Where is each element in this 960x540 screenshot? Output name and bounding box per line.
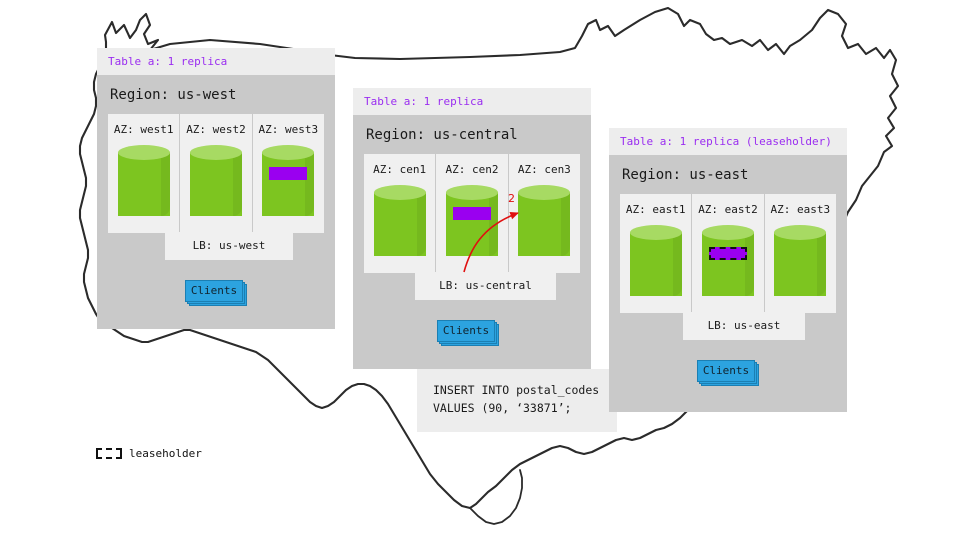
db-node-west1[interactable] <box>118 145 170 223</box>
region-title-us-central: Region: us-central <box>353 115 591 154</box>
load-balancer-us-central[interactable]: LB: us-central <box>415 272 556 300</box>
az-label-east2: AZ: east2 <box>692 203 763 216</box>
legend: leaseholder <box>96 447 202 460</box>
region-header-us-west: Table a: 1 replica <box>97 48 335 75</box>
cylinder-shade <box>489 192 498 256</box>
az-row-us-west: AZ: west1 AZ: west2 AZ: west3 <box>108 114 324 233</box>
region-title-us-west: Region: us-west <box>97 75 335 114</box>
sql-statement-box: INSERT INTO postal_codes VALUES (90, ‘33… <box>417 369 617 432</box>
db-node-west3[interactable] <box>262 145 314 223</box>
legend-label: leaseholder <box>129 447 202 460</box>
az-cell-cen3[interactable]: AZ: cen3 <box>509 154 580 273</box>
cylinder-top <box>190 145 242 160</box>
replica-marker-leaseholder-east2 <box>709 247 747 260</box>
region-panel-us-central: Table a: 1 replica Region: us-central AZ… <box>353 88 591 369</box>
clients-stack-us-west[interactable]: Clients <box>185 280 247 304</box>
diagram-canvas: Table a: 1 replica Region: us-west AZ: w… <box>0 0 960 540</box>
cylinder-top <box>630 225 682 240</box>
db-node-cen3[interactable] <box>518 185 570 263</box>
cylinder-shade <box>817 232 826 296</box>
az-label-west2: AZ: west2 <box>180 123 251 136</box>
db-node-cen1[interactable] <box>374 185 426 263</box>
clients-label-us-east: Clients <box>697 360 755 382</box>
region-panel-us-west: Table a: 1 replica Region: us-west AZ: w… <box>97 48 335 329</box>
cylinder-top <box>774 225 826 240</box>
cylinder-top <box>262 145 314 160</box>
cylinder-top <box>518 185 570 200</box>
db-node-cen2[interactable] <box>446 185 498 263</box>
cylinder-shade <box>745 232 754 296</box>
db-node-east1[interactable] <box>630 225 682 303</box>
clients-stack-us-central[interactable]: Clients <box>437 320 499 344</box>
load-balancer-us-west[interactable]: LB: us-west <box>165 232 293 260</box>
region-title-us-east: Region: us-east <box>609 155 847 194</box>
dashed-rect-icon <box>96 448 122 459</box>
clients-label-us-central: Clients <box>437 320 495 342</box>
replica-marker-cen2 <box>453 207 491 220</box>
load-balancer-us-east[interactable]: LB: us-east <box>683 312 805 340</box>
cylinder-top <box>118 145 170 160</box>
clients-stack-us-east[interactable]: Clients <box>697 360 759 384</box>
arrow-step-number-2: 2 <box>508 192 515 205</box>
clients-label-us-west: Clients <box>185 280 243 302</box>
cylinder-shade <box>305 152 314 216</box>
az-label-cen2: AZ: cen2 <box>436 163 507 176</box>
region-header-us-central: Table a: 1 replica <box>353 88 591 115</box>
az-cell-west2[interactable]: AZ: west2 <box>180 114 252 233</box>
az-row-us-east: AZ: east1 AZ: east2 AZ: east3 <box>620 194 836 313</box>
az-cell-cen2[interactable]: AZ: cen2 <box>436 154 508 273</box>
az-label-east1: AZ: east1 <box>620 203 691 216</box>
region-panel-us-east: Table a: 1 replica (leaseholder) Region:… <box>609 128 847 412</box>
cylinder-top <box>374 185 426 200</box>
replica-marker-west3 <box>269 167 307 180</box>
cylinder-shade <box>161 152 170 216</box>
db-node-east3[interactable] <box>774 225 826 303</box>
az-cell-west3[interactable]: AZ: west3 <box>253 114 324 233</box>
az-cell-west1[interactable]: AZ: west1 <box>108 114 180 233</box>
db-node-east2[interactable] <box>702 225 754 303</box>
region-header-us-east: Table a: 1 replica (leaseholder) <box>609 128 847 155</box>
az-label-west1: AZ: west1 <box>108 123 179 136</box>
az-label-cen3: AZ: cen3 <box>509 163 580 176</box>
cylinder-top <box>702 225 754 240</box>
az-label-east3: AZ: east3 <box>765 203 836 216</box>
db-node-west2[interactable] <box>190 145 242 223</box>
az-cell-east3[interactable]: AZ: east3 <box>765 194 836 313</box>
az-cell-east1[interactable]: AZ: east1 <box>620 194 692 313</box>
az-cell-east2[interactable]: AZ: east2 <box>692 194 764 313</box>
az-label-cen1: AZ: cen1 <box>364 163 435 176</box>
cylinder-shade <box>561 192 570 256</box>
az-cell-cen1[interactable]: AZ: cen1 <box>364 154 436 273</box>
cylinder-shade <box>673 232 682 296</box>
cylinder-top <box>446 185 498 200</box>
az-row-us-central: AZ: cen1 AZ: cen2 AZ: cen3 <box>364 154 580 273</box>
az-label-west3: AZ: west3 <box>253 123 324 136</box>
cylinder-shade <box>233 152 242 216</box>
cylinder-shade <box>417 192 426 256</box>
